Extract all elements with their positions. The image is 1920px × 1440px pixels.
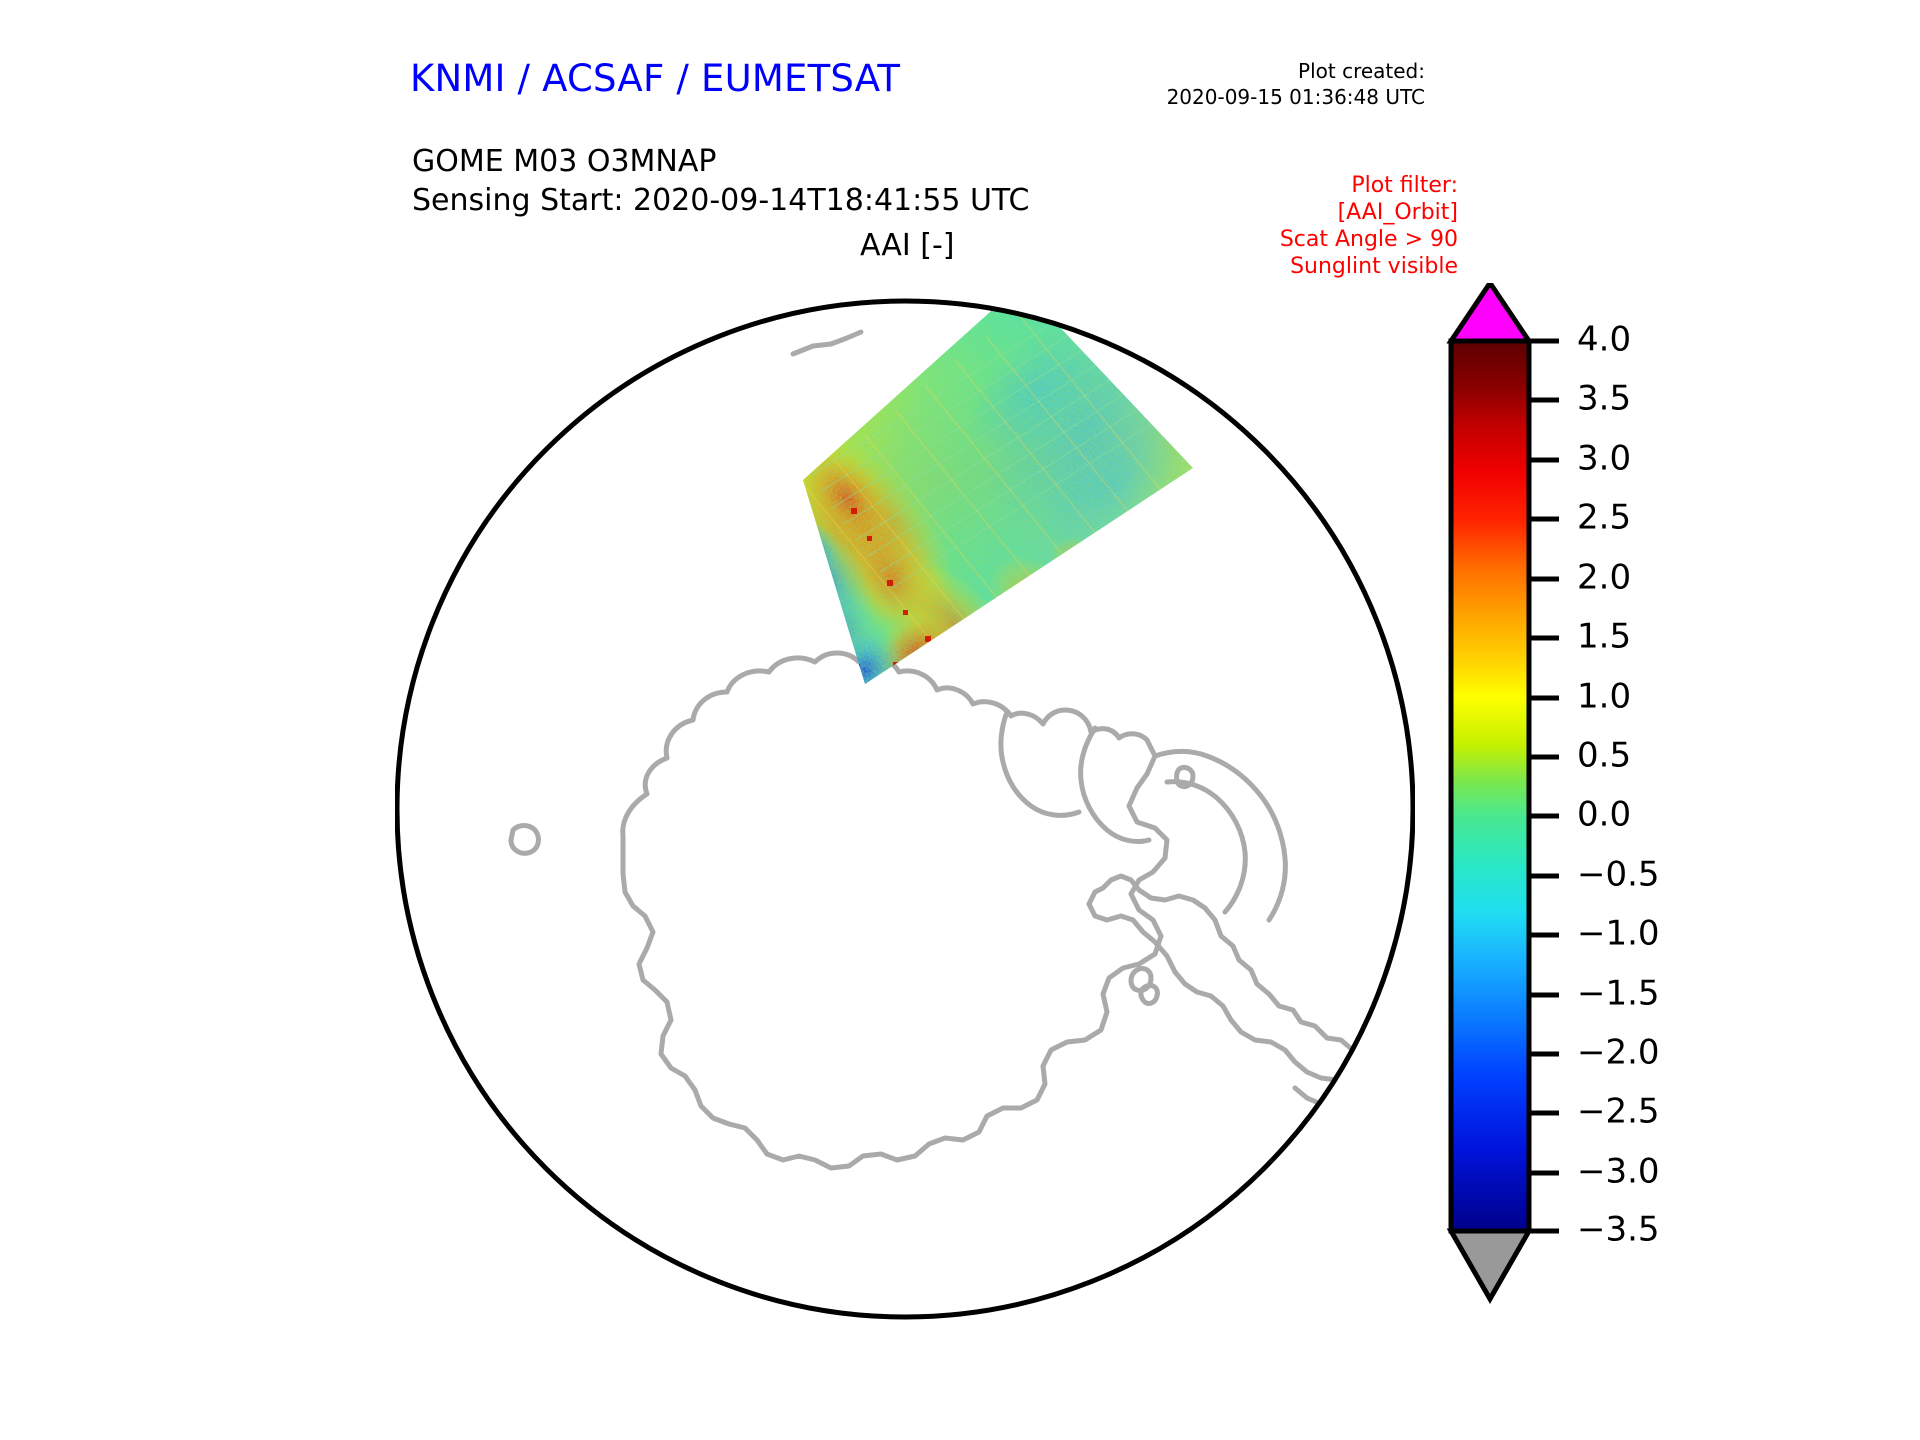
colorbar-tick-label: −1.0 — [1577, 914, 1660, 954]
colorbar-panel: 4.0 3.5 3.0 2.5 2.0 1.5 1.0 0.5 0.0 −0.5… — [1437, 283, 1757, 1343]
plot-filter-line-0: Plot filter: — [1280, 172, 1458, 199]
polar-map — [395, 280, 1415, 1320]
colorbar-tick-label: −2.0 — [1577, 1033, 1660, 1073]
plot-filter-line-1: [AAI_Orbit] — [1280, 199, 1458, 226]
colorbar-tick-label: 3.0 — [1577, 439, 1631, 479]
colorbar-ticks — [1529, 341, 1559, 1231]
colorbar-under-arrow — [1451, 1231, 1529, 1299]
map-panel — [395, 280, 1415, 1320]
colorbar-tick-labels: 4.0 3.5 3.0 2.5 2.0 1.5 1.0 0.5 0.0 −0.5… — [1577, 320, 1660, 1250]
colorbar-over-arrow — [1451, 283, 1529, 341]
colorbar-tick-label: 1.0 — [1577, 677, 1631, 717]
colorbar-tick-label: 2.5 — [1577, 498, 1631, 538]
quantity-title: AAI [-] — [860, 228, 955, 263]
colorbar-tick-label: 0.0 — [1577, 795, 1631, 835]
colorbar-tick-label: −0.5 — [1577, 855, 1660, 895]
sensing-start: Sensing Start: 2020-09-14T18:41:55 UTC — [412, 181, 1029, 220]
plot-created-block: Plot created: 2020-09-15 01:36:48 UTC — [1167, 58, 1425, 110]
colorbar-gradient — [1451, 341, 1529, 1231]
colorbar-tick-label: −3.0 — [1577, 1152, 1660, 1192]
colorbar-tick-label: 0.5 — [1577, 736, 1631, 776]
plot-filter-line-2: Scat Angle > 90 — [1280, 226, 1458, 253]
colorbar-tick-label: 4.0 — [1577, 320, 1631, 360]
plot-created-time: 2020-09-15 01:36:48 UTC — [1167, 84, 1425, 110]
colorbar-tick-label: −2.5 — [1577, 1092, 1660, 1132]
coastline-new-zealand-north — [1275, 280, 1327, 300]
coastline-new-zealand-south — [1215, 288, 1291, 368]
plot-root: KNMI / ACSAF / EUMETSAT Plot created: 20… — [0, 0, 1920, 1440]
plot-filter-line-3: Sunglint visible — [1280, 253, 1458, 280]
plot-filter-block: Plot filter: [AAI_Orbit] Scat Angle > 90… — [1280, 172, 1458, 280]
colorbar-tick-label: 3.5 — [1577, 379, 1631, 419]
colorbar-tick-label: 1.5 — [1577, 617, 1631, 657]
colorbar-tick-label: −3.5 — [1577, 1210, 1660, 1250]
product-block: GOME M03 O3MNAP Sensing Start: 2020-09-1… — [412, 142, 1029, 220]
organisation-title: KNMI / ACSAF / EUMETSAT — [410, 57, 900, 100]
colorbar-tick-label: −1.5 — [1577, 974, 1660, 1014]
product-name: GOME M03 O3MNAP — [412, 142, 1029, 181]
colorbar-tick-label: 2.0 — [1577, 558, 1631, 598]
plot-created-label: Plot created: — [1167, 58, 1425, 84]
colorbar[interactable]: 4.0 3.5 3.0 2.5 2.0 1.5 1.0 0.5 0.0 −0.5… — [1437, 283, 1757, 1343]
